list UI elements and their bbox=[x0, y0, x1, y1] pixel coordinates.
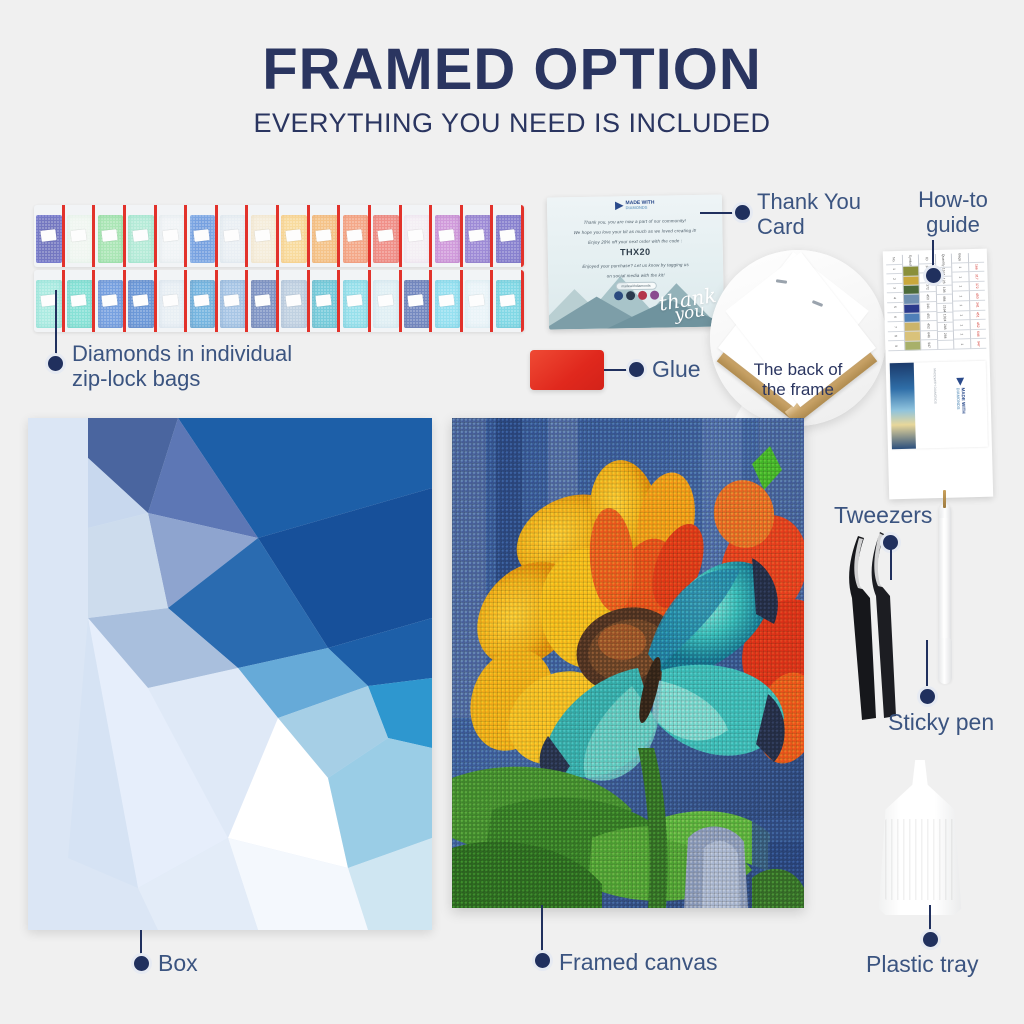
callout-label-tweezers: Tweezers bbox=[834, 503, 932, 529]
chart-cell: 9 bbox=[888, 341, 904, 351]
callout-label-thank-you-card: Thank You Card bbox=[757, 190, 897, 239]
bubble-caption: The back of the frame bbox=[710, 360, 886, 400]
bag-label bbox=[101, 294, 117, 306]
color-swatch bbox=[903, 267, 919, 277]
tweezers-graphic bbox=[846, 528, 912, 724]
zip-lock-bag bbox=[95, 270, 126, 332]
card-logo-line2: DIAMONDS bbox=[626, 206, 655, 211]
pen-grip bbox=[938, 638, 952, 684]
chart-cell: 4 bbox=[887, 293, 903, 303]
chart-cell: 646 bbox=[970, 329, 986, 339]
zip-lock-bag bbox=[340, 270, 371, 332]
chart-cell: 450 bbox=[920, 292, 936, 302]
chart-cell: 3 bbox=[887, 284, 903, 294]
zip-lock-bag bbox=[493, 205, 524, 267]
zip-lock-bag bbox=[279, 270, 310, 332]
bag-zip-seal bbox=[521, 205, 524, 267]
bag-label bbox=[316, 229, 332, 241]
pen-tip-icon bbox=[943, 490, 946, 508]
bag-label bbox=[408, 229, 424, 241]
color-swatch bbox=[904, 323, 920, 333]
color-swatch bbox=[905, 341, 921, 351]
zip-lock-bag bbox=[310, 205, 341, 267]
bag-label bbox=[224, 294, 240, 306]
chart-cell: 1 bbox=[953, 282, 969, 292]
bag-label bbox=[377, 294, 393, 306]
bag-zip-seal bbox=[521, 270, 524, 332]
zip-lock-bag bbox=[95, 205, 126, 267]
bag-label bbox=[316, 294, 332, 306]
bag-label bbox=[346, 229, 362, 241]
zip-lock-bag bbox=[187, 270, 218, 332]
infographic-canvas: FRAMED OPTION EVERYTHING YOU NEED IS INC… bbox=[0, 0, 1024, 1024]
color-swatch bbox=[904, 304, 920, 314]
zip-lock-bag bbox=[218, 205, 249, 267]
chart-cell bbox=[938, 340, 954, 350]
leader-line-framed-canvas bbox=[541, 905, 543, 957]
bag-label bbox=[500, 294, 516, 306]
tweezers bbox=[846, 528, 912, 724]
guide-preview-image bbox=[890, 363, 916, 450]
bag-label bbox=[132, 229, 148, 241]
chart-cell: 372 bbox=[920, 283, 936, 293]
callout-dot-sticky-pen bbox=[920, 689, 935, 704]
bag-label bbox=[193, 229, 209, 241]
callout-label-box: Box bbox=[158, 951, 198, 977]
callout-dot-box bbox=[134, 956, 149, 971]
diamond-bag-row-top bbox=[34, 205, 524, 267]
bag-label bbox=[377, 229, 393, 241]
callout-dot-framed-canvas bbox=[535, 953, 550, 968]
bag-label bbox=[469, 294, 485, 306]
bag-label bbox=[71, 294, 87, 306]
bag-label bbox=[285, 294, 301, 306]
zip-lock-bag bbox=[310, 270, 341, 332]
chart-cell: 6 bbox=[887, 312, 903, 322]
tiktok-icon bbox=[626, 291, 635, 300]
chart-header-cell: Bags bbox=[952, 253, 968, 263]
page-subtitle: EVERYTHING YOU NEED IS INCLUDED bbox=[0, 108, 1024, 139]
chart-cell: 1 bbox=[953, 301, 969, 311]
callout-dot-plastic-tray bbox=[923, 932, 938, 947]
zip-lock-bag bbox=[126, 205, 157, 267]
how-to-guide: No.123456789SymbolID16631737245034145145… bbox=[883, 249, 993, 500]
color-swatch bbox=[904, 332, 920, 342]
chart-cell: 1 bbox=[954, 340, 970, 350]
bag-label bbox=[255, 229, 271, 241]
frame-back-callout-bubble: The back of the frame bbox=[710, 250, 886, 426]
callout-label-plastic-tray: Plastic tray bbox=[866, 952, 978, 978]
zip-lock-bag bbox=[34, 205, 65, 267]
zip-lock-bag bbox=[157, 270, 188, 332]
callout-label-glue: Glue bbox=[652, 357, 701, 383]
chart-cell: 2164 bbox=[937, 304, 953, 314]
chart-cell: 1 bbox=[952, 263, 968, 273]
chart-cell: 1 bbox=[953, 311, 969, 321]
chart-cell: 5 bbox=[887, 303, 903, 313]
callout-label-framed-canvas: Framed canvas bbox=[559, 950, 718, 976]
zip-lock-bag bbox=[218, 270, 249, 332]
bag-label bbox=[438, 294, 454, 306]
zip-lock-bag bbox=[493, 270, 524, 332]
zip-lock-bag bbox=[34, 270, 65, 332]
chart-cell: 646 bbox=[921, 331, 937, 341]
chart-cell: 341 bbox=[920, 302, 936, 312]
zip-lock-bag bbox=[402, 205, 433, 267]
bag-label bbox=[163, 294, 179, 306]
zip-lock-bag bbox=[432, 205, 463, 267]
bag-label bbox=[132, 294, 148, 306]
sticky-pen bbox=[934, 488, 956, 696]
thank-you-card: MADE WITH DIAMONDS Thank you, you are no… bbox=[547, 194, 724, 329]
framed-canvas bbox=[452, 418, 804, 908]
callout-dot-thank-you-card bbox=[735, 205, 750, 220]
chart-header-cell: Symbol bbox=[902, 254, 918, 267]
callout-dot-tweezers bbox=[883, 535, 898, 550]
zip-lock-bag bbox=[157, 205, 188, 267]
callout-dot-glue bbox=[629, 362, 644, 377]
chart-cell: 8 bbox=[888, 332, 904, 342]
bag-label bbox=[224, 229, 240, 241]
bag-label bbox=[255, 294, 271, 306]
bag-label bbox=[193, 294, 209, 306]
bag-label bbox=[40, 229, 56, 241]
chart-cell: 1 bbox=[886, 265, 902, 275]
zip-lock-bag bbox=[463, 270, 494, 332]
zip-lock-bag bbox=[463, 205, 494, 267]
bag-label bbox=[438, 229, 454, 241]
bag-label bbox=[285, 229, 301, 241]
callout-dot-diamonds bbox=[48, 356, 63, 371]
leader-line-tweezers bbox=[890, 549, 892, 580]
chart-cell: 372 bbox=[969, 282, 985, 292]
bag-label bbox=[346, 294, 362, 306]
leader-line-glue bbox=[604, 369, 632, 371]
chart-column: 166317372450341451452646947 bbox=[968, 253, 986, 349]
chart-cell: 2 bbox=[886, 274, 902, 284]
callout-label-sticky-pen: Sticky pen bbox=[888, 710, 994, 736]
chart-cell: 1 bbox=[954, 330, 970, 340]
diamond-mark-icon bbox=[614, 201, 623, 210]
leader-line-plastic-tray bbox=[929, 905, 931, 935]
chart-cell: 451 bbox=[920, 312, 936, 322]
diamond-bag-row-bottom bbox=[34, 270, 524, 332]
chart-cell: 317 bbox=[969, 272, 985, 282]
callout-dot-how-to-guide bbox=[926, 268, 941, 283]
chart-cell: 248 bbox=[937, 322, 953, 332]
bag-label bbox=[40, 294, 56, 306]
leader-line-sticky-pen bbox=[926, 640, 928, 686]
bag-label bbox=[163, 229, 179, 241]
zip-lock-bag bbox=[340, 205, 371, 267]
color-swatch bbox=[903, 285, 919, 295]
bag-label bbox=[500, 229, 516, 241]
bag-label bbox=[71, 229, 87, 241]
callout-label-how-to-guide: How-to guide bbox=[893, 188, 1013, 237]
chart-cell: 198 bbox=[936, 286, 952, 296]
product-box: MADE WITH DIAMONDS bbox=[28, 418, 432, 930]
chart-cell: 1 bbox=[954, 320, 970, 330]
zip-lock-bag bbox=[126, 270, 157, 332]
chart-cell: 166 bbox=[969, 262, 985, 272]
zip-lock-bag bbox=[371, 270, 402, 332]
diamond-mark-icon bbox=[956, 378, 964, 386]
zip-lock-bag bbox=[402, 270, 433, 332]
bag-label bbox=[101, 229, 117, 241]
guide-preview-panel: MADEWITH DIAMONDS MADE WITH DIAMONDS bbox=[890, 361, 988, 449]
zip-lock-bag bbox=[371, 205, 402, 267]
leader-line-diamonds bbox=[55, 290, 57, 360]
zip-lock-bag bbox=[279, 205, 310, 267]
chart-header-cell bbox=[968, 253, 984, 263]
zip-lock-bag bbox=[248, 270, 279, 332]
chart-cell: 341 bbox=[970, 301, 986, 311]
plastic-tray bbox=[872, 760, 968, 915]
chart-cell: 484 bbox=[936, 295, 952, 305]
canvas-diamond-grid bbox=[452, 418, 804, 908]
chart-cell: 452 bbox=[921, 321, 937, 331]
chart-cell: 452 bbox=[970, 320, 986, 330]
youtube-icon bbox=[638, 291, 647, 300]
zip-lock-bag bbox=[187, 205, 218, 267]
chart-cell: 947 bbox=[971, 339, 987, 349]
facebook-icon bbox=[614, 291, 623, 300]
chart-cell: 7 bbox=[888, 322, 904, 332]
tray-ribs bbox=[885, 819, 954, 900]
callout-label-diamonds: Diamonds in individual zip-lock bags bbox=[72, 342, 372, 391]
bag-label bbox=[408, 294, 424, 306]
zip-lock-bag bbox=[432, 270, 463, 332]
color-swatch bbox=[903, 295, 919, 305]
chart-cell: 1924 bbox=[937, 313, 953, 323]
zip-lock-bag bbox=[65, 205, 96, 267]
chart-cell: 451 bbox=[970, 310, 986, 320]
box-low-poly-pattern bbox=[28, 418, 432, 930]
color-swatch bbox=[904, 313, 920, 323]
zip-lock-bag bbox=[248, 205, 279, 267]
chart-header-cell: No. bbox=[886, 255, 902, 265]
page-title: FRAMED OPTION bbox=[0, 36, 1024, 103]
glue-item bbox=[530, 350, 604, 390]
chart-cell: 1 bbox=[952, 272, 968, 282]
leader-line-thank-you-card bbox=[700, 212, 740, 214]
guide-logo-line2: DIAMONDS bbox=[956, 388, 961, 414]
color-swatch bbox=[903, 276, 919, 286]
guide-preview-side-text: MADEWITH DIAMONDS bbox=[932, 368, 937, 404]
chart-cell: 1 bbox=[953, 292, 969, 302]
chart-cell: 264 bbox=[937, 331, 953, 341]
card-social-icons bbox=[614, 291, 659, 301]
card-brand-logo: MADE WITH DIAMONDS bbox=[614, 201, 654, 211]
chart-cell: 947 bbox=[921, 340, 937, 350]
guide-brand-logo: MADE WITH DIAMONDS bbox=[956, 378, 965, 414]
chart-cell: 450 bbox=[969, 291, 985, 301]
chart-header-cell: Quantity bbox=[935, 254, 951, 268]
card-handle-pill: madewithdiamonds bbox=[615, 282, 656, 291]
zip-lock-bag bbox=[65, 270, 96, 332]
bag-label bbox=[469, 229, 485, 241]
guide-logo-line1: MADE WITH bbox=[961, 388, 967, 414]
